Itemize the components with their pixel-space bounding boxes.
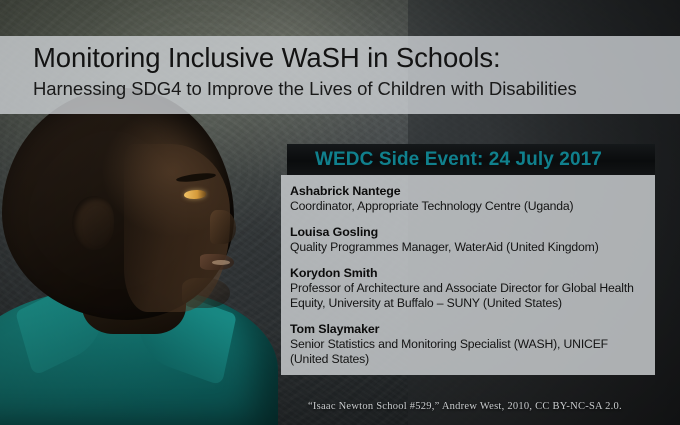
list-item: Ashabrick Nantege Coordinator, Appropria… (290, 184, 647, 214)
title-banner: Monitoring Inclusive WaSH in Schools: Ha… (0, 36, 680, 114)
list-item: Tom Slaymaker Senior Statistics and Moni… (290, 322, 647, 367)
panel-header-bar: WEDC Side Event: 24 July 2017 (287, 144, 655, 175)
list-item: Louisa Gosling Quality Programmes Manage… (290, 225, 647, 255)
speaker-panel: WEDC Side Event: 24 July 2017 Ashabrick … (281, 144, 655, 375)
speaker-role: Senior Statistics and Monitoring Special… (290, 337, 647, 367)
speaker-name: Ashabrick Nantege (290, 184, 647, 199)
speaker-role: Coordinator, Appropriate Technology Cent… (290, 199, 647, 214)
speaker-list: Ashabrick Nantege Coordinator, Appropria… (281, 175, 655, 375)
speaker-role: Quality Programmes Manager, WaterAid (Un… (290, 240, 647, 255)
event-title: WEDC Side Event: 24 July 2017 (315, 149, 602, 171)
list-item: Korydon Smith Professor of Architecture … (290, 266, 647, 311)
speaker-role: Professor of Architecture and Associate … (290, 281, 647, 311)
photo-credit: “Isaac Newton School #529,” Andrew West,… (308, 401, 622, 412)
speaker-name: Korydon Smith (290, 266, 647, 281)
speaker-name: Tom Slaymaker (290, 322, 647, 337)
presentation-slide: Monitoring Inclusive WaSH in Schools: Ha… (0, 0, 680, 425)
speaker-name: Louisa Gosling (290, 225, 647, 240)
slide-subtitle: Harnessing SDG4 to Improve the Lives of … (33, 76, 680, 101)
slide-title: Monitoring Inclusive WaSH in Schools: (33, 41, 680, 75)
